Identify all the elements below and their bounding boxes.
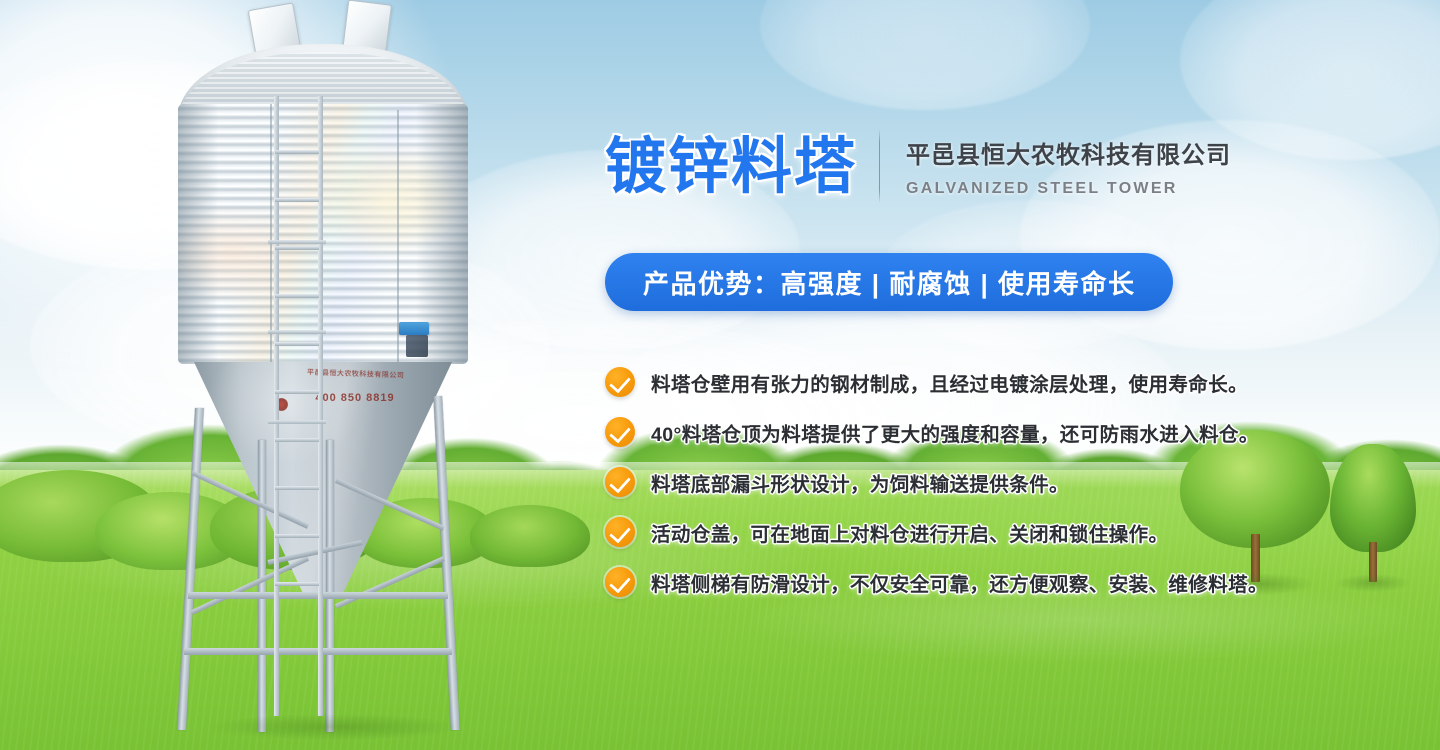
silo-ladder-rail: [274, 96, 279, 716]
banner-content: 镀锌料塔 平邑县恒大农牧科技有限公司 GALVANIZED STEEL TOWE…: [605, 0, 1440, 750]
silo-leg: [326, 440, 334, 732]
check-circle-icon: [605, 417, 635, 447]
silo-ladder-cage: [268, 330, 326, 334]
silo-ladder-rung: [275, 438, 319, 442]
silo-ladder-rung: [275, 246, 319, 250]
silo-leg: [177, 408, 204, 730]
silo-ladder-rung: [275, 582, 319, 586]
list-item: 料塔侧梯有防滑设计，不仅安全可靠，还方便观察、安装、维修料塔。: [605, 557, 1440, 607]
silo-outlet-fitting: [406, 335, 428, 357]
silo-ladder-rung: [275, 342, 319, 346]
list-item: 40°料塔仓顶为料塔提供了更大的强度和容量，还可防雨水进入料仓。: [605, 407, 1440, 457]
silo-ladder-rung: [275, 198, 319, 202]
check-circle-icon: [605, 567, 635, 597]
list-item-label: 40°料塔仓顶为料塔提供了更大的强度和容量，还可防雨水进入料仓。: [651, 418, 1259, 447]
title-secondary-block: 平邑县恒大农牧科技有限公司 GALVANIZED STEEL TOWER: [906, 135, 1231, 198]
silo-ladder-rung: [275, 294, 319, 298]
page-title: 镀锌料塔: [605, 136, 857, 197]
silo-ground-shadow: [210, 714, 460, 740]
list-item-label: 料塔底部漏斗形状设计，为饲料输送提供条件。: [651, 468, 1069, 497]
title-divider: [879, 129, 880, 203]
silo-ladder-rail: [318, 96, 323, 716]
silo-ladder-rung: [275, 486, 319, 490]
banner-stage: 平邑县恒大农牧科技有限公司 400 850 8819: [0, 0, 1440, 750]
company-name: 平邑县恒大农牧科技有限公司: [906, 135, 1231, 170]
product-advantage-badge: 产品优势：高强度 | 耐腐蚀 | 使用寿命长: [605, 253, 1173, 311]
silo-blue-valve: [399, 322, 429, 335]
list-item-label: 料塔侧梯有防滑设计，不仅安全可靠，还方便观察、安装、维修料塔。: [651, 568, 1268, 597]
list-item: 活动仓盖，可在地面上对料仓进行开启、关闭和锁住操作。: [605, 507, 1440, 557]
list-item-label: 料塔仓壁用有张力的钢材制成，且经过电镀涂层处理，使用寿命长。: [651, 368, 1248, 397]
galvanized-silo-image: 平邑县恒大农牧科技有限公司 400 850 8819: [150, 0, 490, 750]
silo-ladder-rung: [275, 534, 319, 538]
list-item-label: 活动仓盖，可在地面上对料仓进行开启、关闭和锁住操作。: [651, 518, 1168, 547]
product-advantage-text: 产品优势：高强度 | 耐腐蚀 | 使用寿命长: [643, 264, 1135, 301]
silo-ladder-rung: [275, 390, 319, 394]
check-circle-icon: [605, 517, 635, 547]
title-row: 镀锌料塔 平邑县恒大农牧科技有限公司 GALVANIZED STEEL TOWE…: [605, 118, 1305, 214]
company-name-english: GALVANIZED STEEL TOWER: [906, 180, 1231, 198]
silo-seam: [270, 104, 272, 364]
check-circle-icon: [605, 467, 635, 497]
feature-list: 料塔仓壁用有张力的钢材制成，且经过电镀涂层处理，使用寿命长。 40°料塔仓顶为料…: [605, 357, 1440, 607]
silo-ladder-cage: [268, 240, 326, 244]
list-item: 料塔仓壁用有张力的钢材制成，且经过电镀涂层处理，使用寿命长。: [605, 357, 1440, 407]
list-item: 料塔底部漏斗形状设计，为饲料输送提供条件。: [605, 457, 1440, 507]
silo-ladder-rung: [275, 150, 319, 154]
check-circle-icon: [605, 367, 635, 397]
silo-ladder-cage: [268, 420, 326, 424]
silo-leg: [258, 440, 266, 732]
